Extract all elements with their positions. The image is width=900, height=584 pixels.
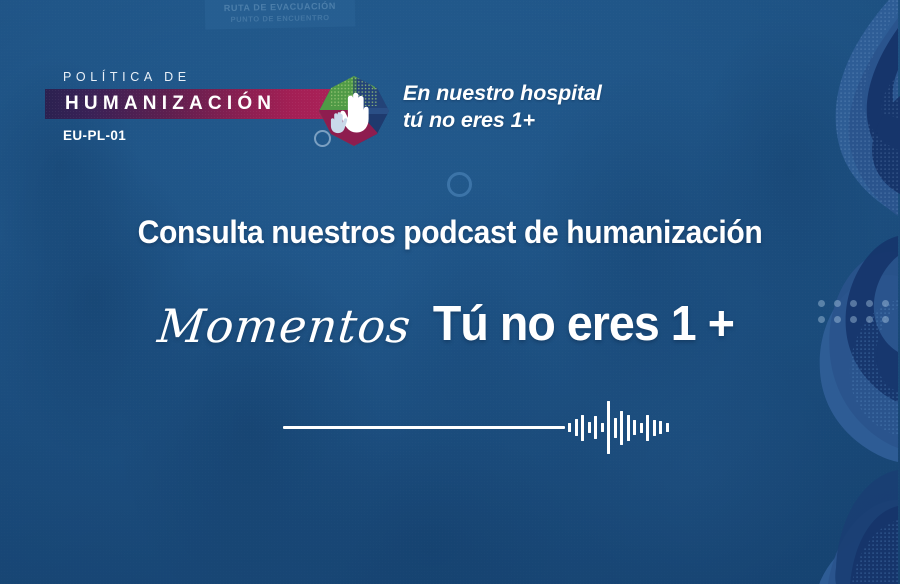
evacuation-sign-line2: PUNTO DE ENCUENTRO [230,12,329,25]
policy-lockup: POLÍTICA DE HUMANIZACIÓN EU-PL-01 [55,70,335,143]
waveform-bar [646,415,649,441]
podcast-title-bold: Tú no eres 1 + [433,296,734,352]
waveform-bar [568,423,571,432]
circle-outline-icon-large [447,172,472,197]
waveform-bar [581,415,584,441]
waveform-bar [653,420,656,436]
waveform-bar [614,418,617,438]
policy-name-label: HUMANIZACIÓN [45,93,276,115]
waveform-bar [594,416,597,439]
podcast-title-script: Momentos [155,299,414,353]
page-title: Consulta nuestros podcast de humanizació… [27,214,873,251]
policy-code-label: EU-PL-01 [63,128,335,143]
dna-ribbon-icon [780,0,900,584]
waveform-bar [666,423,669,432]
waveform-bar [620,411,623,445]
waveform-bar [633,420,636,435]
policy-kicker: POLÍTICA DE [63,70,335,84]
humanization-podcast-banner: RUTA DE EVACUACIÓN PUNTO DE ENCUENTRO [0,0,900,584]
waveform-bar [640,423,643,433]
waveform-bar [575,419,578,436]
policy-name-bar: HUMANIZACIÓN [45,89,335,119]
podcast-title: Momentos Tú no eres 1 + [0,296,900,352]
waveform-bar [607,401,610,454]
waveform-bars [568,400,669,455]
waveform-bar [601,423,604,432]
waveform-baseline [283,426,565,429]
waveform-bar [588,422,591,433]
slogan-line-2: tú no eres 1+ [403,107,602,134]
slogan-line-1: En nuestro hospital [403,80,602,107]
hospital-slogan: En nuestro hospital tú no eres 1+ [403,80,602,134]
background-evacuation-sign: RUTA DE EVACUACIÓN PUNTO DE ENCUENTRO [205,0,356,30]
waveform-bar [627,415,630,441]
audio-waveform-icon [283,400,643,455]
waveform-bar [659,421,662,434]
hands-diamond-icon [317,74,391,148]
